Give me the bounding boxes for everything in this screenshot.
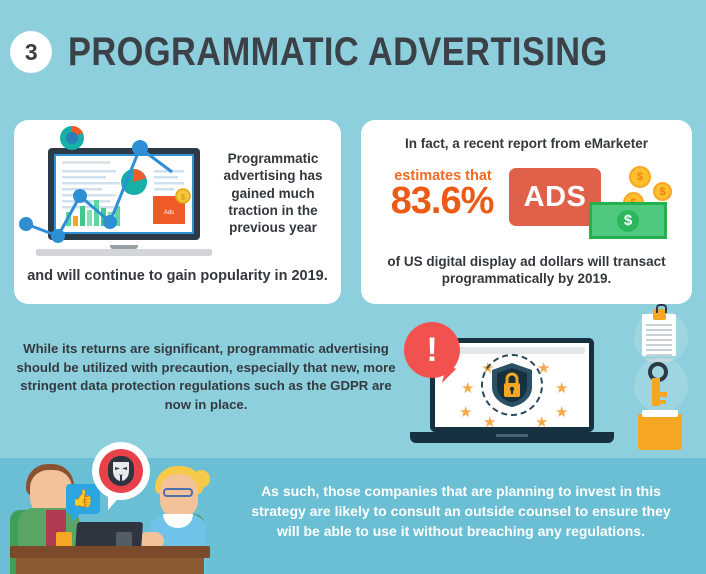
ads-box: ADS [509, 168, 601, 226]
eu-star-icon: ★ [555, 405, 568, 420]
woman-glasses [163, 488, 193, 497]
left-card-footer-text: and will continue to gain popularity in … [14, 268, 341, 284]
hacker-mask-icon [108, 456, 134, 486]
step-number-badge: 3 [10, 31, 52, 73]
shield-dashed-ring [481, 354, 543, 416]
anonymous-mask-svg [111, 460, 131, 482]
hacker-mask-bubble [92, 442, 150, 500]
bottom-band-paragraph: As such, those companies that are planni… [246, 482, 676, 542]
eu-star-icon: ★ [461, 381, 474, 396]
key-tooth [660, 400, 666, 404]
coin-icon: $ [629, 166, 651, 188]
infographic-root: 3 PROGRAMMATIC ADVERTISING [0, 0, 706, 574]
eu-star-icon: ★ [535, 415, 548, 427]
page-title: PROGRAMMATIC ADVERTISING [68, 32, 608, 72]
section-header: 3 PROGRAMMATIC ADVERTISING [0, 22, 706, 82]
money-bill-icon: $ [589, 202, 667, 239]
right-card-trailing-text: of US digital display ad dollars will tr… [361, 253, 692, 288]
folder-tab [642, 410, 678, 417]
card-programmatic-traction: Ads $ Programmatic ad [14, 120, 341, 304]
locked-document-icon [642, 314, 676, 356]
desk-front [16, 558, 204, 574]
gdpr-paragraph: While its returns are significant, progr… [16, 340, 396, 415]
gdpr-laptop-trackpad [496, 434, 528, 437]
browser-bar [439, 347, 585, 354]
statistic-value: 83.6% [371, 182, 513, 222]
folder-icon [638, 414, 682, 450]
trend-line-overlay [20, 124, 232, 256]
card-emarketer-statistic: In fact, a recent report from eMarketer … [361, 120, 692, 304]
key-shaft [652, 378, 660, 406]
left-card-body-text: Programmatic advertising has gained much… [217, 150, 329, 236]
key-tooth [660, 392, 667, 397]
lock-icon [653, 309, 666, 320]
security-icon-column [632, 310, 694, 460]
eu-star-icon: ★ [555, 381, 568, 396]
money-symbol: $ [617, 210, 639, 232]
coin-icon: $ [653, 182, 672, 201]
alert-exclamation-icon: ! [404, 322, 460, 378]
thumbs-up-bubble: 👍 [66, 484, 100, 514]
eu-star-icon: ★ [483, 415, 496, 427]
laptop-analytics-illustration: Ads $ [48, 148, 200, 256]
coin-symbol-text: $ [659, 186, 665, 198]
gdpr-security-illustration: ★ ★ ★ ★ ★ ★ ★ ★ [404, 322, 620, 454]
key-icon [640, 362, 678, 406]
hacker-ring [99, 449, 143, 493]
shield-lock-icon [490, 361, 534, 409]
desk-top [10, 546, 210, 558]
eu-star-icon: ★ [459, 405, 472, 420]
coin-symbol-text: $ [637, 171, 643, 183]
people-at-desk-illustration: 👍 [0, 440, 245, 574]
right-card-lead-text: In fact, a recent report from eMarketer [361, 136, 692, 151]
